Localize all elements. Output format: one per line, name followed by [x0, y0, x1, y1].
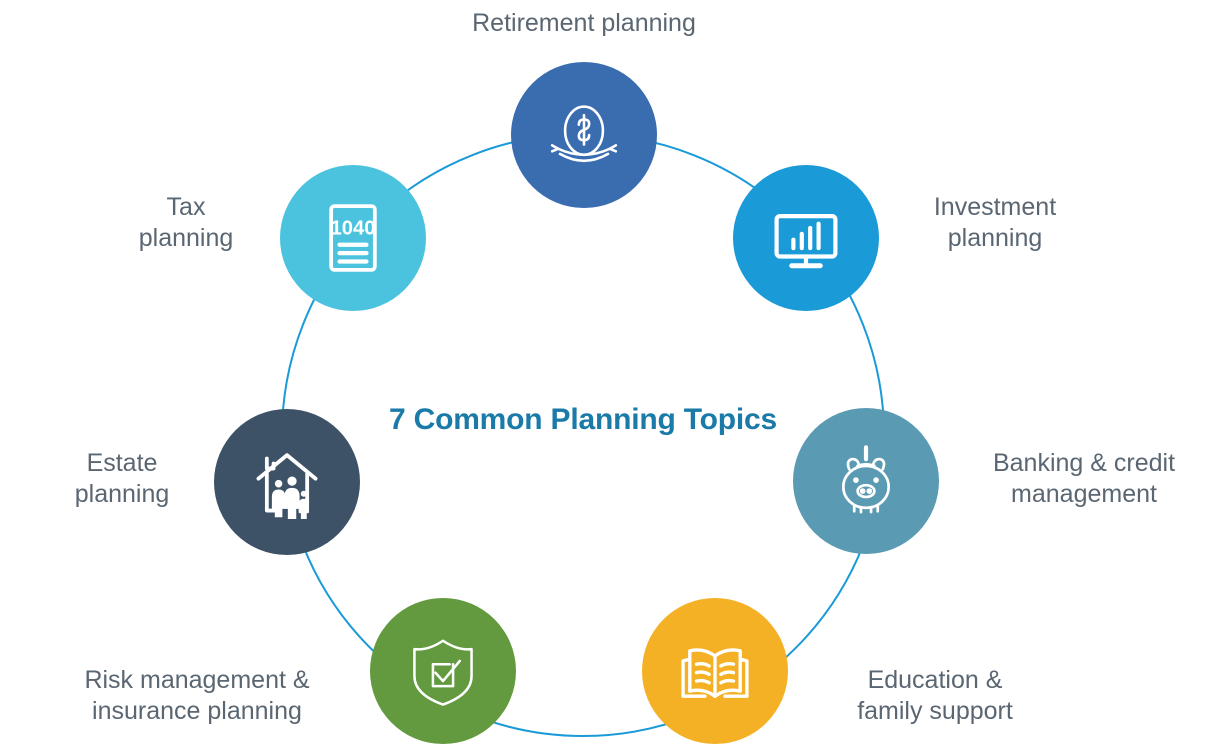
tax-form-1040-icon: 1040 — [311, 196, 395, 280]
open-book-icon — [673, 629, 757, 713]
node-risk-management-insurance-planning[interactable] — [370, 598, 516, 744]
label-retirement-planning: Retirement planning — [384, 8, 784, 39]
label-banking-credit-management: Banking & credit management — [955, 448, 1213, 509]
diagram-title: 7 Common Planning Topics — [333, 403, 833, 437]
node-education-family-support[interactable] — [642, 598, 788, 744]
shield-checkbox-icon — [401, 629, 485, 713]
planning-topics-diagram: 1040 7 Common Planning Topics Retirement… — [0, 0, 1214, 754]
node-investment-planning[interactable] — [733, 165, 879, 311]
node-tax-planning[interactable]: 1040 — [280, 165, 426, 311]
label-education-family-support: Education & family support — [820, 665, 1050, 726]
label-risk-management-insurance-planning: Risk management & insurance planning — [42, 665, 352, 726]
monitor-bar-chart-icon — [764, 196, 848, 280]
label-estate-planning: Estate planning — [36, 448, 208, 509]
piggy-bank-icon — [824, 439, 908, 523]
node-retirement-planning[interactable] — [511, 62, 657, 208]
label-investment-planning: Investment planning — [890, 192, 1100, 253]
house-family-icon — [245, 440, 329, 524]
nest-egg-dollar-icon — [541, 92, 627, 178]
svg-text:1040: 1040 — [331, 218, 376, 240]
label-tax-planning: Tax planning — [106, 192, 266, 253]
